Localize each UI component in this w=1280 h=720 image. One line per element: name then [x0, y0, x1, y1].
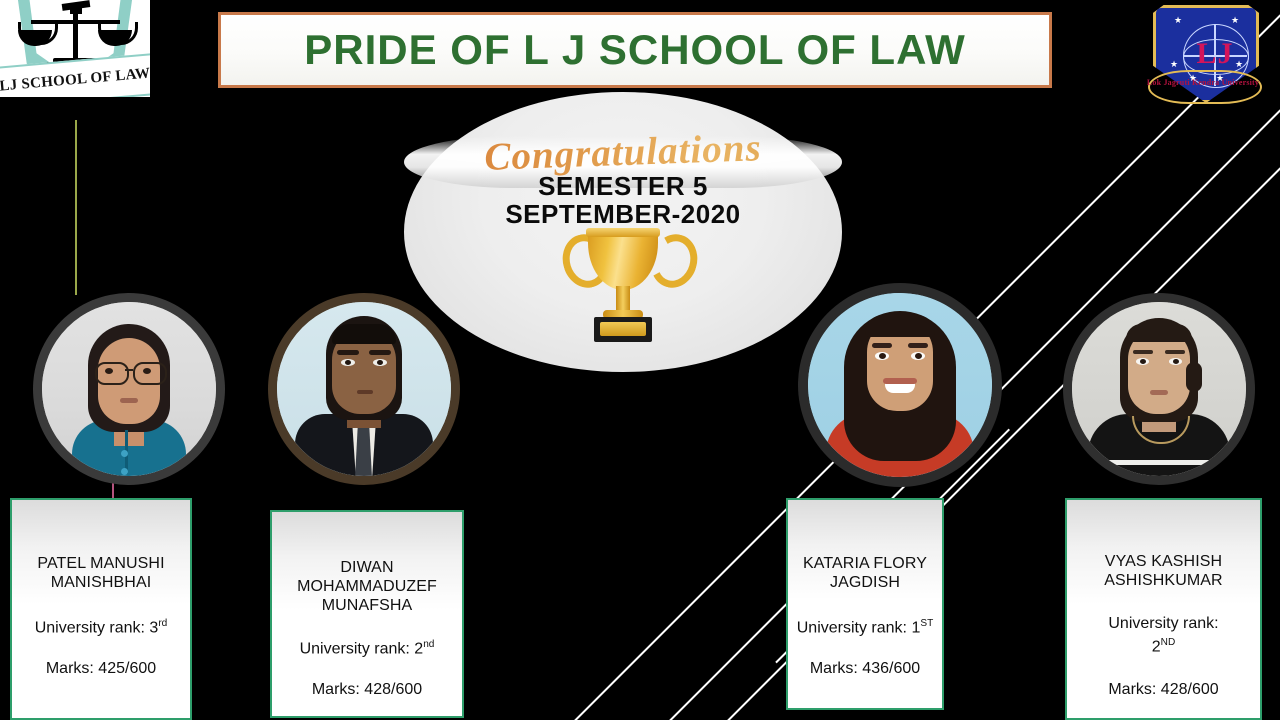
student-photo-4 — [1063, 293, 1255, 485]
student-marks: Marks: 425/600 — [46, 659, 156, 678]
student-name: DIWAN MOHAMMADUZEF MUNAFSHA — [280, 558, 454, 615]
trophy-rim — [586, 228, 660, 237]
rank-label: University rank: — [300, 640, 410, 657]
rank-suffix: nd — [423, 639, 434, 650]
student-card-4[interactable]: VYAS KASHISH ASHISHKUMAR University rank… — [1065, 498, 1262, 720]
student-photo-1 — [33, 293, 225, 485]
star-icon-1: ★ — [1174, 16, 1182, 25]
month-year-line: SEPTEMBER-2020 — [404, 199, 842, 230]
crest-ribbon-band — [1148, 70, 1262, 104]
rank-value: 2 — [1152, 638, 1161, 655]
crest-ribbon-text: Lok Jagruti Kendra University — [1144, 78, 1262, 87]
student-name: PATEL MANUSHI MANISHBHAI — [20, 554, 182, 592]
marks-label: Marks: — [46, 660, 94, 677]
student-card-2[interactable]: DIWAN MOHAMMADUZEF MUNAFSHA University r… — [270, 510, 464, 718]
slide-canvas: LJ SCHOOL OF LAW ★ ★ ★ ★ ★ ★ LJ Lok Jagr… — [0, 0, 1280, 720]
justice-scale-post-icon — [73, 8, 78, 60]
school-logo-ribbon: LJ SCHOOL OF LAW — [0, 53, 150, 97]
rank-suffix: rd — [158, 618, 167, 629]
rank-value: 2 — [414, 640, 423, 657]
rank-suffix: ND — [1161, 637, 1176, 648]
lj-school-of-law-logo: LJ SCHOOL OF LAW — [0, 0, 150, 97]
student-marks: Marks: 428/600 — [1108, 680, 1218, 699]
marks-value: 436/600 — [862, 660, 920, 677]
semester-line: SEMESTER 5 — [404, 171, 842, 202]
student-name: KATARIA FLORY JAGDISH — [796, 554, 934, 592]
marks-label: Marks: — [1108, 681, 1156, 698]
trophy-icon — [553, 228, 693, 346]
student-rank: University rank: 2ND — [1104, 614, 1224, 656]
lok-jagruti-kendra-university-crest: ★ ★ ★ ★ ★ ★ LJ Lok Jagruti Kendra Univer… — [1144, 4, 1262, 116]
star-icon-2: ★ — [1231, 16, 1239, 25]
trophy-nameplate — [600, 322, 646, 336]
student-card-1[interactable]: PATEL MANUSHI MANISHBHAI University rank… — [10, 498, 192, 720]
student-photo-3 — [798, 283, 1002, 487]
connector-line-olive — [75, 120, 77, 295]
student-rank: University rank: 2nd — [300, 635, 435, 658]
student-marks: Marks: 436/600 — [810, 659, 920, 678]
page-title: PRIDE OF L J SCHOOL OF LAW — [304, 26, 966, 74]
rank-label: University rank: — [1108, 615, 1218, 632]
rank-suffix: ST — [920, 618, 933, 629]
rank-label: University rank: — [797, 619, 907, 636]
marks-value: 428/600 — [1161, 681, 1219, 698]
student-marks: Marks: 428/600 — [312, 680, 422, 699]
trophy-stem — [616, 286, 630, 312]
page-title-box: PRIDE OF L J SCHOOL OF LAW — [218, 12, 1052, 88]
student-name: VYAS KASHISH ASHISHKUMAR — [1075, 552, 1252, 590]
student-rank: University rank: 3rd — [35, 614, 168, 637]
rank-value: 3 — [149, 619, 158, 636]
student-rank: University rank: 1ST — [797, 614, 934, 637]
marks-label: Marks: — [810, 660, 858, 677]
student-card-3[interactable]: KATARIA FLORY JAGDISH University rank: 1… — [786, 498, 944, 710]
crest-ribbon: Lok Jagruti Kendra University — [1144, 66, 1262, 106]
school-logo-ribbon-text: LJ SCHOOL OF LAW — [0, 55, 150, 97]
marks-value: 428/600 — [364, 681, 422, 698]
rank-label: University rank: — [35, 619, 145, 636]
marks-label: Marks: — [312, 681, 360, 698]
marks-value: 425/600 — [98, 660, 156, 677]
student-photo-2 — [268, 293, 460, 485]
